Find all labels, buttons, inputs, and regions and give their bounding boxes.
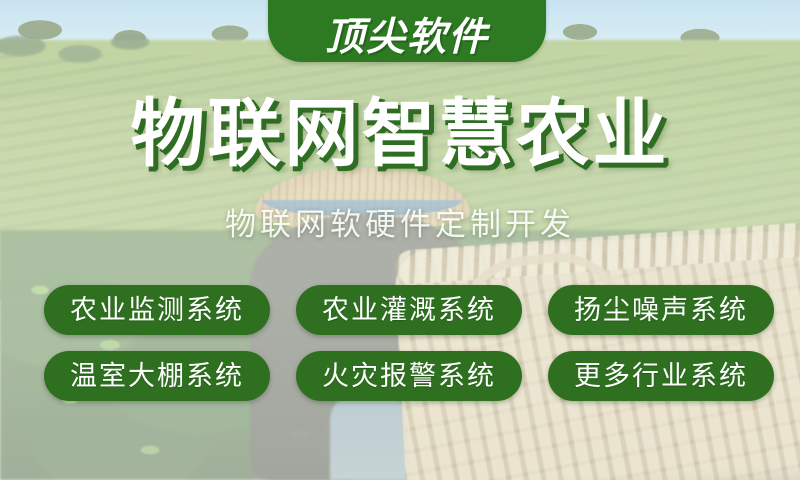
brand-badge-label: 顶尖软件	[325, 18, 489, 57]
pill-dust-noise[interactable]: 扬尘噪声系统	[548, 285, 774, 335]
pill-label: 火灾报警系统	[322, 363, 496, 390]
brand-badge[interactable]: 顶尖软件	[268, 0, 546, 62]
pill-label: 温室大棚系统	[70, 363, 244, 390]
pill-fire-alarm[interactable]: 火灾报警系统	[296, 351, 522, 401]
pill-more-industry-systems[interactable]: 更多行业系统	[548, 351, 774, 401]
promo-banner: 顶尖软件 物联网智慧农业 物联网软硬件定制开发 农业监测系统 农业灌溉系统 扬尘…	[0, 0, 800, 480]
pill-label: 更多行业系统	[574, 363, 748, 390]
pill-label: 农业监测系统	[70, 297, 244, 324]
banner-content: 顶尖软件 物联网智慧农业 物联网软硬件定制开发 农业监测系统 农业灌溉系统 扬尘…	[0, 0, 800, 480]
subtitle-text: 物联网软硬件定制开发	[0, 206, 800, 243]
pill-agriculture-monitoring[interactable]: 农业监测系统	[44, 285, 270, 335]
system-pill-grid: 农业监测系统 农业灌溉系统 扬尘噪声系统 温室大棚系统 火灾报警系统 更多行业系…	[44, 285, 774, 401]
pill-agriculture-irrigation[interactable]: 农业灌溉系统	[296, 285, 522, 335]
headline-title: 物联网智慧农业	[0, 97, 800, 171]
pill-label: 农业灌溉系统	[322, 297, 496, 324]
pill-greenhouse[interactable]: 温室大棚系统	[44, 351, 270, 401]
pill-label: 扬尘噪声系统	[574, 297, 748, 324]
